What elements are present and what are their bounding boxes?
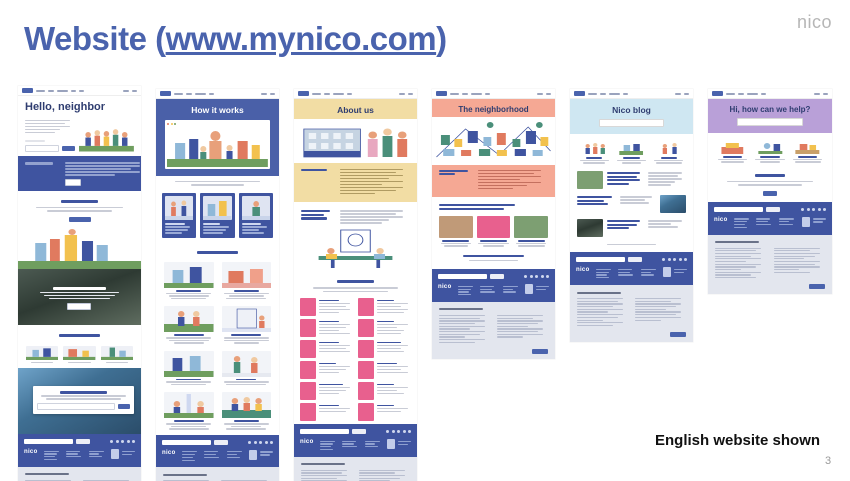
social-links[interactable] (110, 440, 135, 443)
avatar (358, 319, 374, 337)
blog-pagination[interactable] (570, 240, 693, 253)
nav-link[interactable] (471, 93, 482, 95)
footer-link-column[interactable] (66, 449, 83, 462)
avatar (300, 340, 316, 358)
footer-logo: nico (576, 267, 590, 280)
hero-section: Nico blog (570, 99, 693, 134)
team-member[interactable] (300, 298, 353, 316)
hero-title: Hi, how can we help? (730, 99, 811, 114)
reason-card[interactable] (164, 306, 214, 344)
avatar (358, 340, 374, 358)
youtube-icon[interactable] (684, 258, 687, 261)
nav-link[interactable] (462, 93, 468, 95)
team-member[interactable] (358, 382, 411, 400)
nav-link[interactable] (333, 93, 344, 95)
facebook-icon[interactable] (110, 440, 113, 443)
blog-category[interactable] (615, 141, 647, 165)
footer-badges (802, 217, 827, 230)
mock-footer: nico (156, 435, 279, 468)
help-topics (708, 133, 832, 166)
section-reasons (18, 325, 141, 342)
mockup-neighborhood[interactable]: The neighborhood (432, 89, 555, 359)
section-reasons (156, 242, 279, 258)
facebook-icon[interactable] (801, 208, 804, 211)
hero-section: Hi, how can we help? (708, 99, 832, 133)
ready-photo-band (18, 368, 141, 434)
avatar (358, 382, 374, 400)
help-topic[interactable] (791, 140, 824, 164)
city-illustration (18, 227, 141, 269)
team-grid (294, 295, 417, 424)
disclaimer-heading (439, 308, 483, 310)
nav-join[interactable] (823, 93, 828, 95)
disclaimer-heading (301, 463, 345, 465)
nav-join[interactable] (132, 90, 137, 92)
mock-footer: nico (18, 434, 141, 467)
nav-login[interactable] (814, 93, 820, 95)
youtube-icon[interactable] (132, 440, 135, 443)
avatar (300, 382, 316, 400)
mock-navbar[interactable] (570, 89, 693, 99)
team-member[interactable] (358, 340, 411, 358)
nav-link[interactable] (209, 93, 214, 95)
nav-link[interactable] (312, 93, 321, 95)
map-illustration (432, 117, 555, 165)
hero-section: The neighborhood (432, 99, 555, 197)
hero-title: Nico blog (612, 99, 651, 115)
step-card[interactable] (200, 193, 234, 239)
how-it-works-button[interactable] (69, 217, 91, 222)
footer-link-column[interactable] (365, 439, 382, 452)
youtube-icon[interactable] (408, 430, 411, 433)
nav-link[interactable] (738, 93, 744, 95)
facebook-icon[interactable] (524, 275, 527, 278)
avatar (300, 298, 316, 316)
section-cta (432, 252, 555, 270)
avatar (300, 361, 316, 379)
instagram-icon[interactable] (116, 440, 119, 443)
footer-link-column[interactable] (779, 217, 796, 230)
nav-link[interactable] (726, 93, 735, 95)
mock-nav-logo (712, 91, 723, 96)
footer-badges (387, 439, 412, 452)
mock-page: Nico blog (570, 89, 693, 342)
footer-link-column[interactable] (227, 450, 244, 463)
nav-join[interactable] (408, 93, 413, 95)
disclaimer-button[interactable] (532, 349, 548, 354)
submit-question-button[interactable] (763, 191, 777, 196)
nav-link[interactable] (36, 90, 45, 92)
section-how-it-works (18, 191, 141, 227)
disclaimer-heading (25, 473, 69, 475)
post-thumbnail (577, 219, 603, 237)
pbc-illustration (294, 228, 417, 272)
reason-illustration (101, 346, 133, 360)
mock-page: Hello, neighbor (18, 86, 141, 481)
twitter-icon[interactable] (259, 441, 262, 444)
step-illustration (165, 196, 193, 220)
certification-badge-icon (387, 439, 395, 449)
team-member[interactable] (300, 319, 353, 337)
newsletter-input[interactable] (24, 439, 73, 444)
linkedin-icon[interactable] (127, 440, 130, 443)
footer-badges (249, 450, 274, 463)
slide-root: Website (www.mynico.com) nico (0, 0, 850, 481)
newsletter-input[interactable] (714, 207, 763, 212)
post-thumbnail (577, 171, 603, 189)
property-photo (477, 216, 511, 238)
reason-illustration (63, 346, 95, 360)
instagram-icon[interactable] (254, 441, 257, 444)
linkedin-icon[interactable] (265, 441, 268, 444)
reasons-tri (18, 342, 141, 369)
reason-card[interactable] (222, 351, 272, 387)
footer-link-column[interactable] (182, 450, 199, 463)
reason-card[interactable] (222, 392, 272, 430)
team-member[interactable] (300, 361, 353, 379)
property-card[interactable] (477, 216, 511, 248)
certification-badge-icon (111, 449, 119, 459)
footer-link-column[interactable] (503, 284, 520, 297)
linkedin-icon[interactable] (818, 208, 821, 211)
footer-link-column[interactable] (89, 449, 106, 462)
linkedin-icon[interactable] (679, 258, 682, 261)
ready-overlay-card (33, 386, 134, 414)
reasons-grid (156, 258, 279, 435)
social-links[interactable] (248, 441, 273, 444)
instagram-icon[interactable] (530, 275, 533, 278)
nav-login[interactable] (123, 90, 129, 92)
team-member[interactable] (358, 319, 411, 337)
mock-footer: nico (294, 424, 417, 457)
nav-link[interactable] (761, 93, 766, 95)
footer-link-column[interactable] (458, 284, 475, 297)
nav-join[interactable] (546, 93, 551, 95)
mock-page: How it works (156, 89, 279, 481)
twitter-icon[interactable] (397, 430, 400, 433)
nav-join[interactable] (270, 93, 275, 95)
nav-link[interactable] (485, 93, 490, 95)
footer-badges (525, 284, 550, 297)
newsletter-submit-button[interactable] (490, 274, 504, 279)
footer-link-column[interactable] (641, 267, 658, 280)
nav-link[interactable] (588, 93, 597, 95)
hero-title: The neighborhood (432, 99, 555, 114)
reason-card[interactable] (222, 306, 272, 344)
section-portfolio (432, 197, 555, 214)
reason-card[interactable] (164, 262, 214, 300)
instagram-icon[interactable] (807, 208, 810, 211)
hero-section: How it works (156, 99, 279, 176)
nav-login[interactable] (537, 93, 543, 95)
reason-illustration (26, 346, 58, 360)
nav-link[interactable] (79, 90, 84, 92)
nav-link[interactable] (324, 93, 330, 95)
help-search-input[interactable] (737, 118, 803, 126)
mock-footer: nico (432, 269, 555, 302)
property-photo (439, 216, 473, 238)
instagram-icon[interactable] (392, 430, 395, 433)
step-illustration (242, 196, 270, 220)
hero-illustration (79, 118, 134, 152)
nav-link[interactable] (623, 93, 628, 95)
mock-nav-logo (574, 91, 585, 96)
blog-category[interactable] (653, 141, 685, 165)
mock-navbar[interactable] (156, 89, 279, 99)
mock-nav-logo (436, 91, 447, 96)
nav-login[interactable] (675, 93, 681, 95)
social-links[interactable] (386, 430, 411, 433)
footer-link-column[interactable] (342, 439, 359, 452)
team-member[interactable] (300, 340, 353, 358)
nav-login[interactable] (399, 93, 405, 95)
step-illustration (203, 196, 231, 220)
mock-disclaimer (294, 457, 417, 481)
mock-disclaimer (156, 467, 279, 481)
facebook-icon[interactable] (248, 441, 251, 444)
mockup-home[interactable]: Hello, neighbor (18, 86, 141, 481)
youtube-icon[interactable] (823, 208, 826, 211)
newsletter-input[interactable] (438, 274, 487, 279)
newsletter-submit-button[interactable] (766, 207, 780, 212)
nav-link[interactable] (609, 93, 620, 95)
footnote: English website shown (655, 432, 820, 449)
footer-link-column[interactable] (618, 267, 635, 280)
newsletter-submit-button[interactable] (628, 257, 642, 262)
nav-link[interactable] (600, 93, 606, 95)
mock-disclaimer (708, 235, 832, 294)
reason-item (63, 346, 95, 365)
nav-link[interactable] (48, 90, 54, 92)
youtube-icon[interactable] (270, 441, 273, 444)
page-number: 3 (825, 455, 831, 467)
mock-navbar[interactable] (18, 86, 141, 96)
avatar (300, 403, 316, 421)
certification-badge-icon (802, 217, 810, 227)
team-member[interactable] (300, 382, 353, 400)
avatar (300, 319, 316, 337)
youtube-icon[interactable] (546, 275, 549, 278)
mock-disclaimer (432, 302, 555, 359)
footer-logo: nico (714, 217, 728, 230)
newsletter-submit-button[interactable] (76, 439, 90, 444)
blog-search-input[interactable] (599, 119, 665, 127)
reason-card[interactable] (164, 351, 214, 387)
footer-link-column[interactable] (320, 439, 337, 452)
newsletter-submit-button[interactable] (352, 429, 366, 434)
footer-logo: nico (24, 449, 38, 462)
learn-more-button[interactable] (65, 179, 81, 186)
footer-link-column[interactable] (596, 267, 613, 280)
invest-photo-band (18, 269, 141, 325)
invest-cta-button[interactable] (67, 303, 91, 310)
avatar (358, 361, 374, 379)
certification-badge-icon (249, 450, 257, 460)
reason-card[interactable] (222, 262, 272, 300)
disclaimer-button[interactable] (809, 284, 825, 289)
mock-footer: nico (570, 252, 693, 285)
hero-title: How it works (191, 99, 243, 115)
nav-login[interactable] (261, 93, 267, 95)
mock-disclaimer (18, 467, 141, 481)
hero-title: Hello, neighbor (25, 102, 134, 113)
certification-badge-icon (663, 267, 671, 277)
hero-illustration (294, 119, 417, 163)
reason-item (101, 346, 133, 365)
twitter-icon[interactable] (673, 258, 676, 261)
mockup-gallery: Hello, neighbor (0, 0, 850, 481)
nav-link[interactable] (195, 93, 206, 95)
mock-nav-logo (298, 91, 309, 96)
team-member[interactable] (358, 403, 411, 421)
footer-link-column[interactable] (204, 450, 221, 463)
intro-text (156, 176, 279, 189)
property-card[interactable] (514, 216, 548, 248)
mock-disclaimer (570, 285, 693, 342)
footer-link-column[interactable] (734, 217, 751, 230)
nav-link[interactable] (747, 93, 758, 95)
facebook-icon[interactable] (386, 430, 389, 433)
social-links[interactable] (662, 258, 687, 261)
footer-link-column[interactable] (44, 449, 61, 462)
nav-link[interactable] (174, 93, 183, 95)
reason-card[interactable] (164, 392, 214, 430)
footer-link-column[interactable] (480, 284, 497, 297)
footer-link-column[interactable] (756, 217, 773, 230)
mock-navbar[interactable] (708, 89, 832, 99)
nav-join[interactable] (684, 93, 689, 95)
footer-badges (663, 267, 688, 280)
instagram-icon[interactable] (668, 258, 671, 261)
post-thumbnail (660, 195, 686, 213)
disclaimer-heading (163, 474, 207, 476)
twitter-icon[interactable] (812, 208, 815, 211)
help-topic[interactable] (716, 140, 749, 164)
nav-link[interactable] (186, 93, 192, 95)
linkedin-icon[interactable] (541, 275, 544, 278)
newsletter-input[interactable] (300, 429, 349, 434)
footer-badges (111, 449, 136, 462)
property-cards (432, 214, 555, 252)
avatar (358, 403, 374, 421)
disclaimer-heading (577, 292, 621, 294)
mockup-about-us[interactable]: About us (294, 89, 417, 481)
blog-post[interactable] (570, 168, 693, 192)
mockup-how-it-works[interactable]: How it works (156, 89, 279, 481)
team-member[interactable] (358, 298, 411, 316)
mock-nav-logo (22, 88, 33, 93)
linkedin-icon[interactable] (403, 430, 406, 433)
social-links[interactable] (801, 208, 826, 211)
certification-badge-icon (525, 284, 533, 294)
nav-link[interactable] (71, 90, 76, 92)
hero-video-frame[interactable] (165, 120, 270, 169)
help-topic[interactable] (754, 140, 787, 164)
signup-button[interactable] (62, 146, 75, 151)
disclaimer-button[interactable] (670, 332, 686, 337)
nav-link[interactable] (450, 93, 459, 95)
avatar (358, 298, 374, 316)
section-what-is-nico (18, 156, 141, 191)
mock-page: Hi, how can we help? (708, 89, 832, 294)
hero-title: About us (294, 99, 417, 115)
facebook-icon[interactable] (662, 258, 665, 261)
mock-page: About us (294, 89, 417, 481)
hero-section: About us (294, 99, 417, 202)
footer-logo: nico (162, 450, 176, 463)
footer-logo: nico (300, 439, 314, 452)
section-pbc (294, 202, 417, 226)
overlay-email-input[interactable] (37, 403, 115, 410)
disclaimer-heading (715, 241, 759, 243)
mock-footer: nico (708, 202, 832, 235)
twitter-icon[interactable] (535, 275, 538, 278)
blog-post[interactable] (570, 216, 693, 240)
email-input[interactable] (25, 145, 59, 152)
step-card[interactable] (162, 193, 196, 239)
property-photo (514, 216, 548, 238)
blog-categories (570, 134, 693, 168)
newsletter-input[interactable] (576, 257, 625, 262)
social-links[interactable] (524, 275, 549, 278)
section-submit-question (708, 166, 832, 202)
mock-page: The neighborhood (432, 89, 555, 359)
nav-link[interactable] (57, 90, 68, 92)
team-member[interactable] (300, 403, 353, 421)
section-team (294, 272, 417, 295)
mock-navbar[interactable] (432, 89, 555, 99)
mockup-blog[interactable]: Nico blog (570, 89, 693, 342)
footer-logo: nico (438, 284, 452, 297)
step-cards (156, 189, 279, 243)
overlay-submit-button[interactable] (118, 404, 130, 409)
twitter-icon[interactable] (121, 440, 124, 443)
newsletter-submit-button[interactable] (214, 440, 228, 445)
team-member[interactable] (358, 361, 411, 379)
mock-navbar[interactable] (294, 89, 417, 99)
hero-section: Hello, neighbor (18, 96, 141, 156)
step-card[interactable] (239, 193, 273, 239)
blog-category[interactable] (578, 141, 610, 165)
property-card[interactable] (439, 216, 473, 248)
mockup-help[interactable]: Hi, how can we help? (708, 89, 832, 294)
mock-nav-logo (160, 91, 171, 96)
blog-post[interactable] (570, 192, 693, 216)
newsletter-input[interactable] (162, 440, 211, 445)
nav-link[interactable] (347, 93, 352, 95)
reason-item (26, 346, 58, 365)
